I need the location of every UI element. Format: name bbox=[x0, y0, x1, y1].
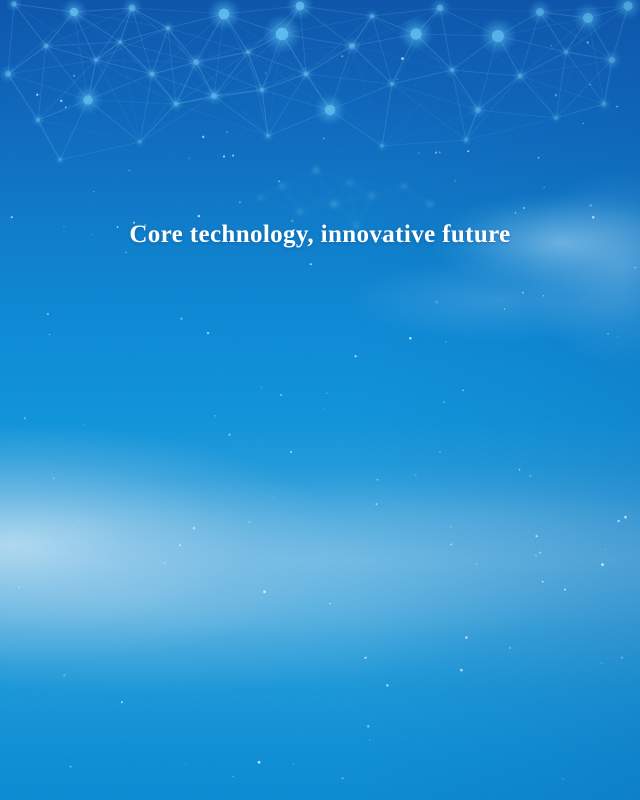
hero-banner: Core technology, innovative future bbox=[0, 0, 640, 800]
secondary-plexus-svg bbox=[0, 0, 640, 800]
left-haze-band bbox=[0, 0, 640, 800]
speckles-svg bbox=[0, 0, 640, 800]
plexus-edges bbox=[8, 4, 628, 160]
mid-haze-band bbox=[0, 0, 640, 800]
star-speckles bbox=[0, 0, 640, 800]
sky-gradient-background bbox=[0, 0, 640, 800]
speckle-points bbox=[11, 42, 636, 780]
noise-grain-overlay bbox=[0, 0, 640, 800]
secondary-plexus-graphic bbox=[0, 0, 640, 800]
network-plexus-graphic bbox=[0, 0, 640, 800]
cloud-puff bbox=[0, 0, 640, 800]
page-title: Core technology, innovative future bbox=[129, 218, 510, 252]
grain-svg bbox=[0, 0, 640, 800]
plexus-nodes bbox=[0, 0, 640, 166]
right-vignette bbox=[0, 0, 640, 800]
plexus-svg bbox=[0, 0, 640, 800]
headline-block: Core technology, innovative future bbox=[0, 218, 640, 252]
